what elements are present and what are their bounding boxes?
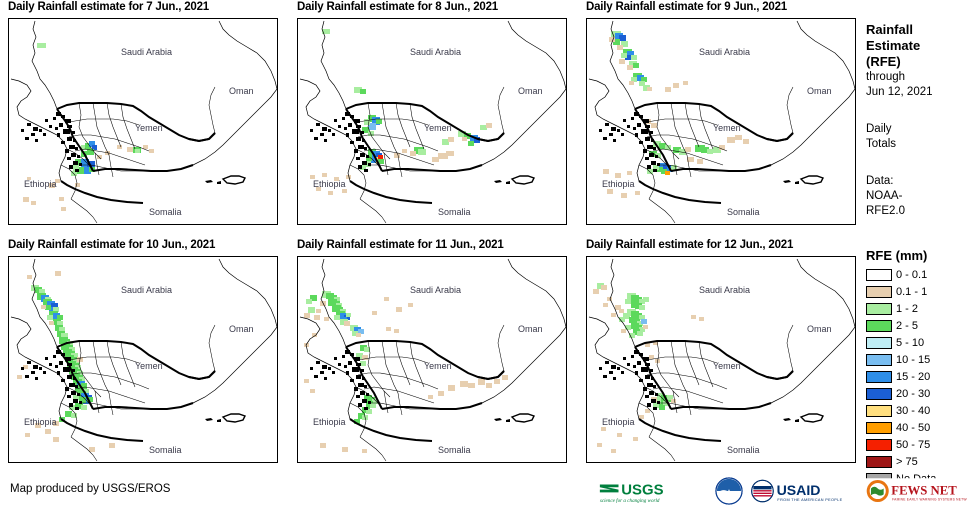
fewsnet-logo: FEWS NET FAMINE EARLY WARNING SYSTEMS NE… xyxy=(865,477,967,505)
usaid-logo: USAID FROM THE AMERICAN PEOPLE xyxy=(750,477,858,505)
map-frame: Saudi ArabiaOmanYemenEthiopiaSomalia xyxy=(297,18,567,225)
period-line-2: Totals xyxy=(866,137,966,152)
legend-label: 1 - 2 xyxy=(896,303,918,315)
svg-text:FEWS NET: FEWS NET xyxy=(891,483,957,497)
label-saudi-arabia: Saudi Arabia xyxy=(699,285,750,295)
map-frame: Saudi ArabiaOmanYemenEthiopiaSomalia xyxy=(8,18,278,225)
label-ethiopia: Ethiopia xyxy=(602,417,635,427)
legend-swatch xyxy=(866,456,892,468)
map-panel-title: Daily Rainfall estimate for 9 Jun., 2021 xyxy=(578,0,863,16)
sidebar: Rainfall Estimate (RFE) through Jun 12, … xyxy=(860,0,967,511)
legend-label: 10 - 15 xyxy=(896,354,930,366)
agency-logo-bar: USGS science for a changing world USAID … xyxy=(598,476,967,506)
map-panel-1: Daily Rainfall estimate for 7 Jun., 2021… xyxy=(0,0,285,232)
label-somalia: Somalia xyxy=(149,207,182,217)
legend-swatch xyxy=(866,354,892,366)
svg-text:USGS: USGS xyxy=(621,483,663,499)
legend-swatch xyxy=(866,303,892,315)
svg-text:science for a changing world: science for a changing world xyxy=(600,497,660,504)
map-credit: Map produced by USGS/EROS xyxy=(10,482,170,496)
map-panel-2: Daily Rainfall estimate for 8 Jun., 2021… xyxy=(289,0,574,232)
legend-row: 1 - 2 xyxy=(866,301,966,317)
legend-label: 2 - 5 xyxy=(896,320,918,332)
map-panel-title: Daily Rainfall estimate for 11 Jun., 202… xyxy=(289,238,574,254)
legend-label: 15 - 20 xyxy=(896,371,930,383)
fewsnet-globe-icon xyxy=(867,480,889,502)
rainfall-map-1: Saudi ArabiaOmanYemenEthiopiaSomalia xyxy=(9,19,278,225)
label-saudi-arabia: Saudi Arabia xyxy=(121,285,172,295)
svg-text:FAMINE EARLY WARNING SYSTEMS N: FAMINE EARLY WARNING SYSTEMS NETWORK xyxy=(892,497,967,501)
map-panel-title: Daily Rainfall estimate for 7 Jun., 2021 xyxy=(0,0,285,16)
rainfall-map-2: Saudi ArabiaOmanYemenEthiopiaSomalia xyxy=(298,19,567,225)
label-somalia: Somalia xyxy=(149,445,182,455)
map-panel-grid: Daily Rainfall estimate for 7 Jun., 2021… xyxy=(0,0,856,472)
legend-swatch xyxy=(866,269,892,281)
label-ethiopia: Ethiopia xyxy=(24,417,57,427)
data-source-line-1: NOAA- xyxy=(866,189,966,204)
map-panel-6: Daily Rainfall estimate for 12 Jun., 202… xyxy=(578,238,863,470)
label-somalia: Somalia xyxy=(727,445,760,455)
through-date: Jun 12, 2021 xyxy=(866,85,966,100)
legend-row: 40 - 50 xyxy=(866,420,966,436)
legend-swatch xyxy=(866,388,892,400)
label-ethiopia: Ethiopia xyxy=(313,417,346,427)
legend-row: 2 - 5 xyxy=(866,318,966,334)
label-yemen: Yemen xyxy=(424,361,452,371)
legend-row: 10 - 15 xyxy=(866,352,966,368)
usgs-logo: USGS science for a changing world xyxy=(598,477,708,505)
label-saudi-arabia: Saudi Arabia xyxy=(121,47,172,57)
label-oman: Oman xyxy=(229,324,254,334)
label-ethiopia: Ethiopia xyxy=(602,179,635,189)
legend-label: 0 - 0.1 xyxy=(896,269,927,281)
map-frame: Saudi ArabiaOmanYemenEthiopiaSomalia xyxy=(586,256,856,463)
label-oman: Oman xyxy=(229,86,254,96)
map-panel-title: Daily Rainfall estimate for 8 Jun., 2021 xyxy=(289,0,574,16)
legend-row: 0.1 - 1 xyxy=(866,284,966,300)
legend-row: 0 - 0.1 xyxy=(866,267,966,283)
rainfall-map-5: Saudi ArabiaOmanYemenEthiopiaSomalia xyxy=(298,257,567,463)
map-panel-5: Daily Rainfall estimate for 11 Jun., 202… xyxy=(289,238,574,470)
rainfall-map-4: Saudi ArabiaOmanYemenEthiopiaSomalia xyxy=(9,257,278,463)
map-panel-title: Daily Rainfall estimate for 12 Jun., 202… xyxy=(578,238,863,254)
label-somalia: Somalia xyxy=(727,207,760,217)
legend-label: 0.1 - 1 xyxy=(896,286,927,298)
legend-label: 50 - 75 xyxy=(896,439,930,451)
legend-title: RFE (mm) xyxy=(866,248,966,263)
label-saudi-arabia: Saudi Arabia xyxy=(410,285,461,295)
label-oman: Oman xyxy=(518,324,543,334)
label-saudi-arabia: Saudi Arabia xyxy=(410,47,461,57)
svg-text:FROM THE AMERICAN PEOPLE: FROM THE AMERICAN PEOPLE xyxy=(777,498,842,502)
rfe-heading-line2: Estimate xyxy=(866,38,966,54)
legend-label: > 75 xyxy=(896,456,918,468)
legend-row: 30 - 40 xyxy=(866,403,966,419)
label-oman: Oman xyxy=(807,324,832,334)
rfe-heading: Rainfall Estimate (RFE) xyxy=(866,22,966,70)
label-yemen: Yemen xyxy=(424,123,452,133)
label-saudi-arabia: Saudi Arabia xyxy=(699,47,750,57)
label-oman: Oman xyxy=(807,86,832,96)
map-panel-title: Daily Rainfall estimate for 10 Jun., 202… xyxy=(0,238,285,254)
legend-label: 5 - 10 xyxy=(896,337,924,349)
label-somalia: Somalia xyxy=(438,445,471,455)
legend-row: 5 - 10 xyxy=(866,335,966,351)
rfe-heading-line1: Rainfall xyxy=(866,22,966,38)
legend-row: 20 - 30 xyxy=(866,386,966,402)
period-line-1: Daily xyxy=(866,122,966,137)
label-yemen: Yemen xyxy=(713,361,741,371)
label-somalia: Somalia xyxy=(438,207,471,217)
legend-swatch xyxy=(866,422,892,434)
legend-swatch xyxy=(866,286,892,298)
rainfall-map-6: Saudi ArabiaOmanYemenEthiopiaSomalia xyxy=(587,257,856,463)
legend-swatch xyxy=(866,320,892,332)
rainfall-map-3: Saudi ArabiaOmanYemenEthiopiaSomalia xyxy=(587,19,856,225)
legend-swatch xyxy=(866,371,892,383)
map-frame: Saudi ArabiaOmanYemenEthiopiaSomalia xyxy=(297,256,567,463)
legend-label: 20 - 30 xyxy=(896,388,930,400)
label-ethiopia: Ethiopia xyxy=(313,179,346,189)
legend-swatch xyxy=(866,337,892,349)
label-oman: Oman xyxy=(518,86,543,96)
map-panel-4: Daily Rainfall estimate for 10 Jun., 202… xyxy=(0,238,285,470)
legend-swatch xyxy=(866,439,892,451)
legend-row: 50 - 75 xyxy=(866,437,966,453)
usaid-seal xyxy=(752,480,774,502)
legend-rows: 0 - 0.10.1 - 11 - 22 - 55 - 1010 - 1515 … xyxy=(866,267,966,487)
map-panel-3: Daily Rainfall estimate for 9 Jun., 2021… xyxy=(578,0,863,232)
data-label: Data: xyxy=(866,174,966,189)
legend-label: 40 - 50 xyxy=(896,422,930,434)
label-yemen: Yemen xyxy=(135,123,163,133)
label-yemen: Yemen xyxy=(713,123,741,133)
legend-row: 15 - 20 xyxy=(866,369,966,385)
data-source-line-2: RFE2.0 xyxy=(866,204,966,219)
label-ethiopia: Ethiopia xyxy=(24,179,57,189)
legend-swatch xyxy=(866,405,892,417)
noaa-logo xyxy=(715,477,743,505)
rfe-heading-line3: (RFE) xyxy=(866,54,966,70)
label-yemen: Yemen xyxy=(135,361,163,371)
legend-label: 30 - 40 xyxy=(896,405,930,417)
rfe-legend: RFE (mm) 0 - 0.10.1 - 11 - 22 - 55 - 101… xyxy=(866,248,966,488)
map-frame: Saudi ArabiaOmanYemenEthiopiaSomalia xyxy=(8,256,278,463)
map-frame: Saudi ArabiaOmanYemenEthiopiaSomalia xyxy=(586,18,856,225)
svg-text:USAID: USAID xyxy=(777,482,821,498)
through-label: through xyxy=(866,70,966,85)
legend-row: > 75 xyxy=(866,454,966,470)
